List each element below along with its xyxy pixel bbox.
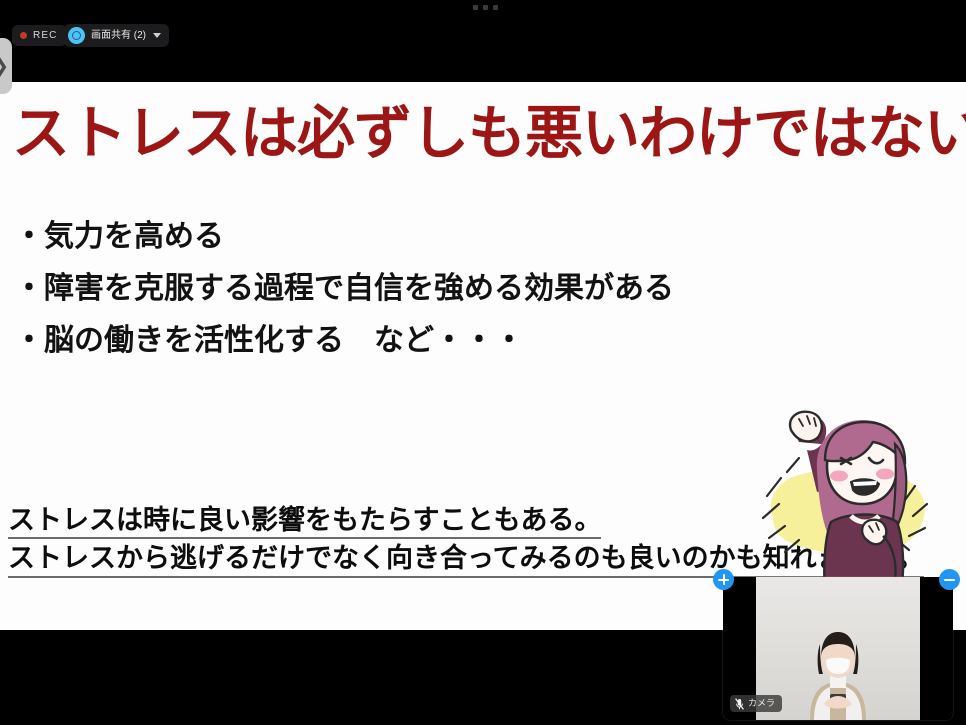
drag-dots-icon[interactable] — [473, 5, 498, 10]
slide-bullet-item: ・障害を克服する過程で自信を強める効果がある — [14, 274, 814, 304]
participant-video-figure — [788, 624, 888, 720]
slide-bullet-list: ・気力を高める ・障害を克服する過程で自信を強める効果がある ・脳の働きを活性化… — [14, 222, 814, 378]
self-view-video-panel[interactable]: カメラ — [723, 577, 953, 720]
drag-dot — [473, 5, 478, 10]
meeting-screen-share-view: REC 画面共有 (2) ❯ ストレスは必ずしも悪いわけではない ・気力を高める… — [0, 0, 966, 725]
slide-title: ストレスは必ずしも悪いわけではない — [12, 86, 954, 170]
slide-bullet-item: ・気力を高める — [14, 222, 814, 252]
drag-dot — [493, 5, 498, 10]
drag-dot — [483, 5, 488, 10]
slide-bullet-item: ・脳の働きを活性化する など・・・ — [14, 326, 814, 356]
recording-label: REC — [33, 31, 57, 41]
sidebar-expand-handle[interactable]: ❯ — [0, 38, 12, 94]
record-dot-icon — [20, 32, 27, 39]
screen-share-label: 画面共有 (2) — [91, 31, 146, 41]
chevron-down-icon[interactable] — [153, 33, 161, 38]
zoom-out-button[interactable] — [939, 569, 960, 590]
screen-share-icon — [68, 27, 85, 44]
camera-name-label: カメラ — [748, 699, 775, 708]
recording-indicator[interactable]: REC — [12, 25, 67, 46]
slide-footer-line: ストレスは時に良い影響をもたらすこともある。 — [8, 507, 601, 539]
camera-name-badge: カメラ — [730, 695, 782, 712]
shared-slide: ストレスは必ずしも悪いわけではない ・気力を高める ・障害を克服する過程で自信を… — [0, 82, 966, 630]
cheering-woman-illustration — [755, 400, 940, 595]
zoom-in-button[interactable] — [713, 569, 734, 590]
meeting-toolbar: REC 画面共有 (2) — [0, 0, 966, 60]
chevron-right-icon: ❯ — [0, 57, 9, 76]
screen-share-button[interactable]: 画面共有 (2) — [64, 24, 169, 47]
mic-off-icon — [735, 698, 744, 710]
